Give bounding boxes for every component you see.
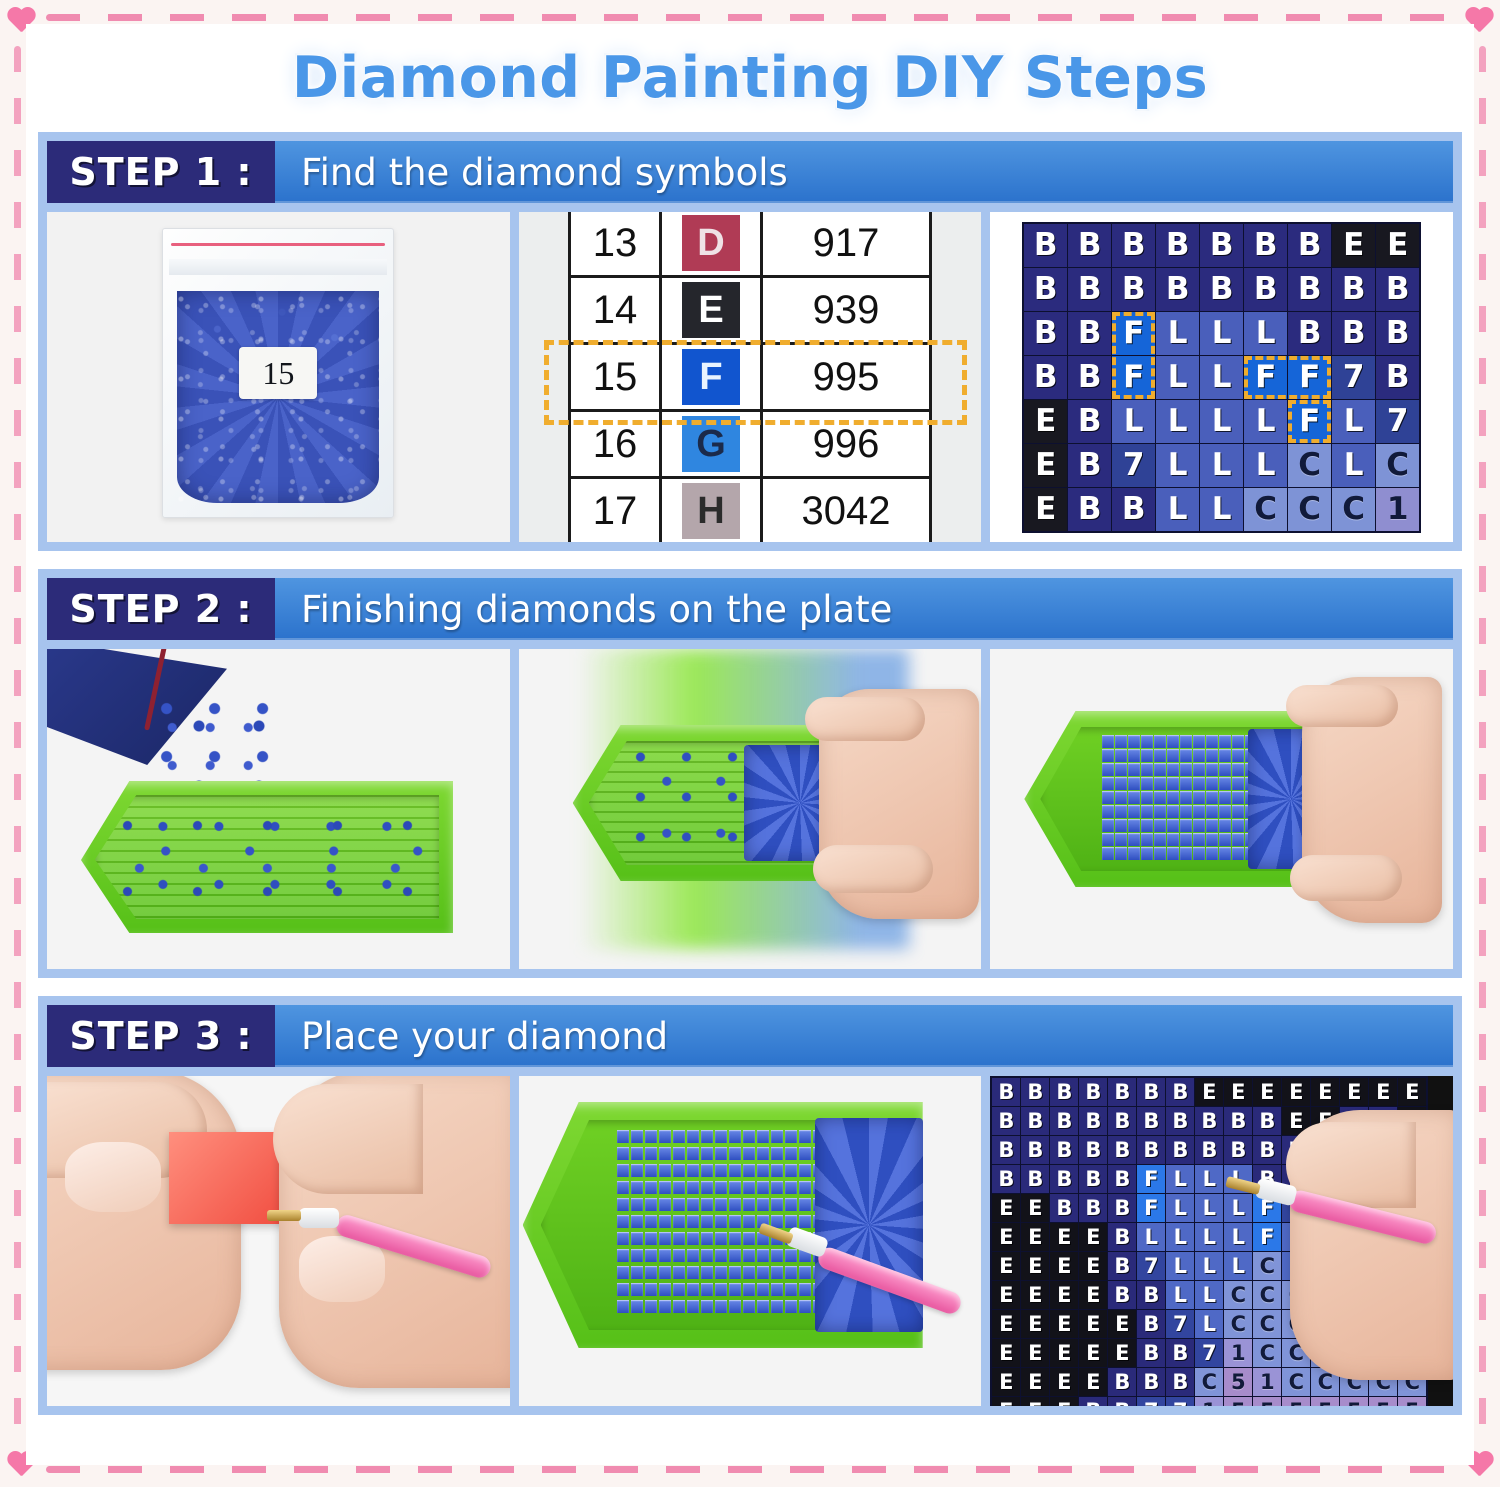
grid-symbol-cell: 7 <box>1137 1397 1165 1406</box>
grid-symbol-cell: 5 <box>1369 1397 1397 1406</box>
grid-symbol-cell: C <box>1376 444 1419 487</box>
grid-symbol-cell: B <box>1021 1078 1049 1106</box>
step-tag-3: STEP 3 : <box>47 1005 275 1067</box>
grid-symbol-cell: 1 <box>1253 1368 1281 1396</box>
diamond-bead <box>1128 763 1140 776</box>
diamond-bead <box>757 1164 769 1177</box>
grid-symbol-cell: 7 <box>1166 1397 1194 1406</box>
key-row-symbol: D <box>661 212 762 277</box>
sparse-beads <box>629 749 759 857</box>
grid-symbol-cell: B <box>1079 1397 1107 1406</box>
diamond-bead <box>1128 777 1140 790</box>
diamond-bead <box>757 1300 769 1313</box>
diamond-bead <box>1167 749 1179 762</box>
diamond-bead <box>1141 749 1153 762</box>
grid-symbol-cell: B <box>1079 1107 1107 1135</box>
pour-scene <box>47 649 510 969</box>
diamond-bead <box>1115 819 1127 832</box>
symbol-grid-scene: BBBBBBBEEBBBBBBBBBBBFLLLBBBBBFLLFF7BEBLL… <box>990 212 1453 542</box>
grid-symbol-cell: 1 <box>1224 1339 1252 1367</box>
key-table-row: 16G996 <box>570 411 931 478</box>
grid-symbol-cell: E <box>1021 1194 1049 1222</box>
key-row-dmc-code: 995 <box>762 344 931 411</box>
grid-symbol-cell: B <box>1079 1136 1107 1164</box>
bead-row <box>1102 833 1272 847</box>
diamond-bead <box>785 1181 797 1194</box>
grid-symbol-cell: B <box>1288 268 1331 311</box>
diamond-bead <box>1219 805 1231 818</box>
grid-symbol-cell: B <box>1068 224 1111 267</box>
grid-symbol-cell: E <box>1108 1339 1136 1367</box>
grid-symbol-cell: L <box>1166 1165 1194 1193</box>
diamond-bead <box>729 1249 741 1262</box>
diamond-bead <box>1193 805 1205 818</box>
aligned-scene <box>990 649 1453 969</box>
diamond-bead <box>1180 819 1192 832</box>
grid-highlight-box <box>1244 356 1331 399</box>
bead-row <box>617 1130 835 1144</box>
grid-symbol-cell: F <box>1137 1194 1165 1222</box>
grid-symbol-cell: B <box>1244 224 1287 267</box>
diamond-bead <box>785 1164 797 1177</box>
diamond-bead <box>743 1283 755 1296</box>
diamond-bead <box>645 1215 657 1228</box>
diamond-bead <box>1193 749 1205 762</box>
grid-symbol-cell: E <box>1376 224 1419 267</box>
diamond-bead <box>645 1266 657 1279</box>
page-title: Diamond Painting DIY Steps <box>292 45 1208 111</box>
grid-symbol-cell: E <box>992 1339 1020 1367</box>
grid-symbol-cell: B <box>1108 1252 1136 1280</box>
diamond-bead <box>1167 847 1179 860</box>
diamond-bead <box>1115 791 1127 804</box>
grid-symbol-cell: L <box>1224 1223 1252 1251</box>
diamond-bead <box>1219 847 1231 860</box>
diamond-bead <box>645 1130 657 1143</box>
diamond-bead <box>673 1198 685 1211</box>
grid-symbol-cell: L <box>1112 400 1155 443</box>
diamond-bead <box>1180 791 1192 804</box>
diamond-bead <box>1128 819 1140 832</box>
grid-symbol-cell: B <box>1108 1078 1136 1106</box>
diamond-bead <box>659 1198 671 1211</box>
image-aligned-diamonds <box>990 649 1453 969</box>
grid-symbol-cell: B <box>1068 400 1111 443</box>
grid-symbol-cell: C <box>1224 1281 1252 1309</box>
grid-highlight-box <box>1288 400 1331 443</box>
grid-symbol-cell: E <box>1079 1310 1107 1338</box>
diamond-bead <box>701 1232 713 1245</box>
diamond-bead <box>1102 763 1114 776</box>
diamond-bead <box>715 1266 727 1279</box>
grid-symbol-cell: B <box>1050 1136 1078 1164</box>
step-panel-3: STEP 3 : Place your diamond <box>38 996 1462 1415</box>
diamond-bead <box>687 1266 699 1279</box>
diamond-bead <box>729 1130 741 1143</box>
diamond-bead <box>1128 791 1140 804</box>
grid-symbol-cell: E <box>1050 1397 1078 1406</box>
diamond-bead <box>1128 805 1140 818</box>
diamond-bead <box>1141 791 1153 804</box>
pen-metal-tip <box>267 1210 301 1221</box>
grid-symbol-cell: B <box>1112 488 1155 531</box>
bead-row <box>617 1266 835 1280</box>
symbol-chip: G <box>682 416 740 472</box>
diamond-bead <box>729 1181 741 1194</box>
diamond-bead <box>1102 833 1114 846</box>
pickup-scene <box>519 1076 982 1406</box>
grid-symbol-cell: F <box>1137 1165 1165 1193</box>
step-tag-2: STEP 2 : <box>47 578 275 640</box>
diamond-bead <box>1193 763 1205 776</box>
grid-symbol-cell: L <box>1200 400 1243 443</box>
grid-symbol-cell: C <box>1253 1339 1281 1367</box>
diamond-bead <box>1232 819 1244 832</box>
diamond-bead <box>1167 805 1179 818</box>
grid-symbol-cell: B <box>1244 268 1287 311</box>
diamond-bead <box>1193 735 1205 748</box>
bead-row <box>1102 749 1272 763</box>
diamond-bead <box>799 1130 811 1143</box>
diamond-bead <box>799 1198 811 1211</box>
diamond-bead <box>617 1266 629 1279</box>
image-picking-up-diamond <box>519 1076 982 1406</box>
grid-symbol-cell: 5 <box>1311 1397 1339 1406</box>
diamond-bead <box>687 1164 699 1177</box>
grid-symbol-cell: B <box>1166 1078 1194 1106</box>
grid-symbol-cell: E <box>1079 1368 1107 1396</box>
diamond-bead <box>771 1266 783 1279</box>
grid-symbol-cell: E <box>1108 1310 1136 1338</box>
grid-symbol-cell: L <box>1156 312 1199 355</box>
grid-symbol-cell: B <box>1050 1165 1078 1193</box>
grid-symbol-cell: B <box>1021 1165 1049 1193</box>
diamond-bead <box>1102 805 1114 818</box>
steps-list: STEP 1 : Find the diamond symbols 15 <box>38 132 1462 1415</box>
grid-symbol-cell: E <box>1050 1281 1078 1309</box>
place-scene: BBBBBBBEEEEEEEEBBBBBBBBBBEEBBEBBBBBBBBBB… <box>990 1076 1453 1406</box>
grid-symbol-cell: B <box>992 1165 1020 1193</box>
grid-symbol-cell: B <box>1332 312 1375 355</box>
diamond-bead <box>771 1300 783 1313</box>
grid-symbol-cell: E <box>1021 1281 1049 1309</box>
diamond-bead <box>701 1249 713 1262</box>
bag-scene: 15 <box>47 212 510 542</box>
diamond-bead <box>743 1249 755 1262</box>
diamond-bead <box>687 1283 699 1296</box>
grid-symbol-cell: E <box>992 1397 1020 1406</box>
grid-symbol-cell: L <box>1200 312 1243 355</box>
step-caption-3: Place your diamond <box>275 1005 1453 1067</box>
diamond-bead <box>1102 819 1114 832</box>
grid-symbol-cell: B <box>1079 1165 1107 1193</box>
grid-symbol-cell: 7 <box>1166 1310 1194 1338</box>
diamond-bead <box>1154 805 1166 818</box>
diamond-bead <box>771 1198 783 1211</box>
grid-symbol-cell: B <box>1021 1107 1049 1135</box>
diamond-bead <box>1102 735 1114 748</box>
grid-symbol-cell: B <box>1200 224 1243 267</box>
grid-symbol-cell: L <box>1156 400 1199 443</box>
grid-symbol-cell: B <box>1050 1078 1078 1106</box>
grid-symbol-cell: B <box>1024 268 1067 311</box>
diamond-bead <box>1167 819 1179 832</box>
grid-symbol-cell: B <box>1137 1281 1165 1309</box>
diamond-bead <box>729 1232 741 1245</box>
grid-symbol-cell: E <box>1369 1078 1397 1106</box>
grid-symbol-cell: 5 <box>1282 1397 1310 1406</box>
key-row-number: 17 <box>570 478 661 543</box>
diamond-bead <box>785 1198 797 1211</box>
grid-symbol-cell: E <box>1079 1252 1107 1280</box>
diamond-bead <box>729 1266 741 1279</box>
diamond-bead <box>617 1232 629 1245</box>
diamond-bead <box>799 1164 811 1177</box>
grid-symbol-cell: B <box>992 1136 1020 1164</box>
diamond-bead <box>743 1215 755 1228</box>
bead-heap <box>815 1118 923 1332</box>
grid-symbol-cell: B <box>1137 1339 1165 1367</box>
diamond-bead <box>1219 819 1231 832</box>
grid-symbol-cell: C <box>1253 1281 1281 1309</box>
diamond-bead <box>1115 805 1127 818</box>
grid-symbol-cell: E <box>1021 1252 1049 1280</box>
image-symbol-key-table: 13D91714E93915F99516G99617H3042 <box>519 212 982 542</box>
key-row-number: 14 <box>570 277 661 344</box>
diamond-bead <box>1206 833 1218 846</box>
diamond-bead <box>1232 833 1244 846</box>
instruction-card: Diamond Painting DIY Steps STEP 1 : Find… <box>26 24 1474 1465</box>
diamond-bead <box>617 1249 629 1262</box>
diamond-bead <box>1206 791 1218 804</box>
grid-symbol-cell: B <box>1108 1136 1136 1164</box>
diamond-bead <box>701 1300 713 1313</box>
diamond-bead <box>1219 763 1231 776</box>
key-row-dmc-code: 939 <box>762 277 931 344</box>
grid-symbol-cell: L <box>1200 488 1243 531</box>
bag-number-label: 15 <box>239 347 317 399</box>
grid-symbol-cell: B <box>1156 224 1199 267</box>
diamond-bead <box>673 1164 685 1177</box>
grid-symbol-cell: B <box>1024 312 1067 355</box>
diamond-bead <box>771 1249 783 1262</box>
grid-symbol-cell: B <box>1166 1339 1194 1367</box>
diamond-bead <box>1219 833 1231 846</box>
diamond-bead <box>1219 735 1231 748</box>
diamond-bead <box>715 1147 727 1160</box>
diamond-bead <box>1206 819 1218 832</box>
step-body-3: BBBBBBBEEEEEEEEBBBBBBBBBBEEBBEBBBBBBBBBB… <box>47 1067 1453 1406</box>
grid-symbol-cell: B <box>1108 1397 1136 1406</box>
bag-zipper-seal <box>169 259 387 275</box>
diamond-bead <box>673 1130 685 1143</box>
diamond-bead <box>673 1266 685 1279</box>
diamond-bead <box>631 1300 643 1313</box>
grid-symbol-cell: E <box>1340 1078 1368 1106</box>
bead-row <box>617 1181 835 1195</box>
diamond-bead <box>1193 819 1205 832</box>
step-caption-1: Find the diamond symbols <box>275 141 1453 203</box>
bead-row <box>1102 777 1272 791</box>
grid-symbol-cell: B <box>1288 312 1331 355</box>
grid-symbol-cell: E <box>1050 1339 1078 1367</box>
grid-symbol-cell: B <box>1137 1078 1165 1106</box>
bead-row <box>617 1164 835 1178</box>
diamond-bead <box>1154 847 1166 860</box>
grid-symbol-cell: E <box>1079 1281 1107 1309</box>
diamond-bead <box>1167 763 1179 776</box>
grid-symbol-cell: B <box>1253 1136 1281 1164</box>
grid-symbol-cell: B <box>1024 224 1067 267</box>
diamond-bead <box>771 1147 783 1160</box>
diamond-bead <box>1141 847 1153 860</box>
grid-symbol-cell: B <box>992 1078 1020 1106</box>
diamond-bead <box>1128 749 1140 762</box>
diamond-bead <box>729 1147 741 1160</box>
diamond-bead <box>687 1198 699 1211</box>
grid-symbol-cell: E <box>992 1252 1020 1280</box>
diamond-bead <box>1167 833 1179 846</box>
diamond-bead <box>1167 777 1179 790</box>
aligned-bead-rows <box>1102 735 1272 863</box>
grid-symbol-cell: E <box>1398 1078 1426 1106</box>
grid-symbol-cell: E <box>1024 400 1067 443</box>
diamond-bead <box>1115 847 1127 860</box>
grid-symbol-cell: B <box>1166 1136 1194 1164</box>
diamond-bead <box>631 1198 643 1211</box>
grid-symbol-cell: B <box>1137 1310 1165 1338</box>
symbol-chip: H <box>682 483 740 539</box>
grid-symbol-cell: L <box>1332 400 1375 443</box>
grid-symbol-cell: E <box>1021 1397 1049 1406</box>
diamond-bead <box>659 1249 671 1262</box>
frame-dash-left <box>14 46 21 1441</box>
grid-symbol-cell: C <box>1253 1252 1281 1280</box>
grid-symbol-cell: 7 <box>1332 356 1375 399</box>
grid-symbol-cell: B <box>1021 1136 1049 1164</box>
diamond-bead <box>1102 777 1114 790</box>
diamond-bead <box>701 1164 713 1177</box>
grid-symbol-cell: E <box>992 1310 1020 1338</box>
grid-symbol-cell: 5 <box>1398 1397 1426 1406</box>
image-placing-diamond-on-canvas: BBBBBBBEEEEEEEEBBBBBBBBBBEEBBEBBBBBBBBBB… <box>990 1076 1453 1406</box>
diamond-bead <box>771 1283 783 1296</box>
step-caption-2: Finishing diamonds on the plate <box>275 578 1453 640</box>
frame-dash-bottom <box>46 1466 1454 1473</box>
diamond-bead <box>659 1130 671 1143</box>
key-row-symbol: E <box>661 277 762 344</box>
diamond-bead <box>1115 735 1127 748</box>
diamond-bead <box>785 1249 797 1262</box>
diamond-bead <box>617 1283 629 1296</box>
grid-symbol-cell: B <box>1224 1107 1252 1135</box>
diamond-bead <box>645 1249 657 1262</box>
grid-symbol-cell: C <box>1244 488 1287 531</box>
step-panel-2: STEP 2 : Finishing diamonds on the plate <box>38 569 1462 978</box>
shake-scene <box>519 649 982 969</box>
diamond-bead <box>715 1283 727 1296</box>
diamond-bead <box>771 1130 783 1143</box>
grid-symbol-cell: F <box>1253 1223 1281 1251</box>
diamond-bead <box>1102 847 1114 860</box>
grid-symbol-cell: C <box>1253 1310 1281 1338</box>
grid-symbol-cell: E <box>992 1281 1020 1309</box>
diamond-bead <box>729 1283 741 1296</box>
diamond-bead <box>729 1198 741 1211</box>
grid-symbol-cell: B <box>1376 268 1419 311</box>
diamond-bead <box>743 1232 755 1245</box>
grid-symbol-cell: E <box>1282 1078 1310 1106</box>
thumbnail <box>65 1142 161 1212</box>
diamond-bead <box>687 1232 699 1245</box>
diamond-bead <box>1232 791 1244 804</box>
diamond-bead <box>715 1232 727 1245</box>
symbol-chip: F <box>682 349 740 405</box>
diamond-bead <box>687 1215 699 1228</box>
grid-symbol-cell: E <box>1021 1339 1049 1367</box>
diamond-bead <box>715 1215 727 1228</box>
diamond-bead <box>1115 749 1127 762</box>
diamond-bead <box>631 1147 643 1160</box>
diamond-bead <box>645 1232 657 1245</box>
pen-collar <box>299 1208 339 1228</box>
grid-symbol-cell: B <box>1108 1107 1136 1135</box>
grid-symbol-cell: L <box>1195 1194 1223 1222</box>
frame-dash-right <box>1479 46 1486 1441</box>
diamond-bead <box>1180 777 1192 790</box>
diamond-bead <box>1232 847 1244 860</box>
diamond-bead <box>631 1232 643 1245</box>
diamond-bead <box>673 1232 685 1245</box>
grid-symbol-cell: E <box>1050 1252 1078 1280</box>
diamond-bead <box>771 1181 783 1194</box>
diamond-bead <box>645 1181 657 1194</box>
grid-symbol-cell: B <box>1068 312 1111 355</box>
grid-symbol-cell: B <box>1024 356 1067 399</box>
grid-symbol-cell: B <box>1068 356 1111 399</box>
diamond-bead <box>673 1249 685 1262</box>
diamond-bead <box>701 1181 713 1194</box>
grid-symbol-cell: E <box>1311 1078 1339 1106</box>
diamond-bead <box>1141 819 1153 832</box>
grid-symbol-cell: E <box>1021 1223 1049 1251</box>
diamond-bead <box>785 1300 797 1313</box>
diamond-bead <box>701 1130 713 1143</box>
diamond-bead <box>799 1300 811 1313</box>
diamond-bead <box>1154 749 1166 762</box>
symbol-chip: D <box>682 215 740 271</box>
finger <box>805 697 925 741</box>
finger <box>1290 855 1402 901</box>
diamond-bead <box>757 1147 769 1160</box>
key-table-scene: 13D91714E93915F99516G99617H3042 <box>519 212 982 542</box>
diamond-bead <box>757 1283 769 1296</box>
diamond-bead <box>617 1164 629 1177</box>
diamond-bead <box>645 1300 657 1313</box>
diamond-bead <box>631 1164 643 1177</box>
grid-symbol-cell: B <box>1079 1078 1107 1106</box>
grid-symbol-cell: L <box>1332 444 1375 487</box>
symbol-chip: E <box>682 282 740 338</box>
diamond-bead <box>1219 791 1231 804</box>
diamond-bead <box>1180 749 1192 762</box>
grid-symbol-cell: L <box>1195 1310 1223 1338</box>
diamond-bead <box>1167 735 1179 748</box>
image-shaking-tray <box>519 649 982 969</box>
diamond-bead <box>785 1266 797 1279</box>
key-table-row: 13D917 <box>570 212 931 277</box>
key-row-symbol: H <box>661 478 762 543</box>
